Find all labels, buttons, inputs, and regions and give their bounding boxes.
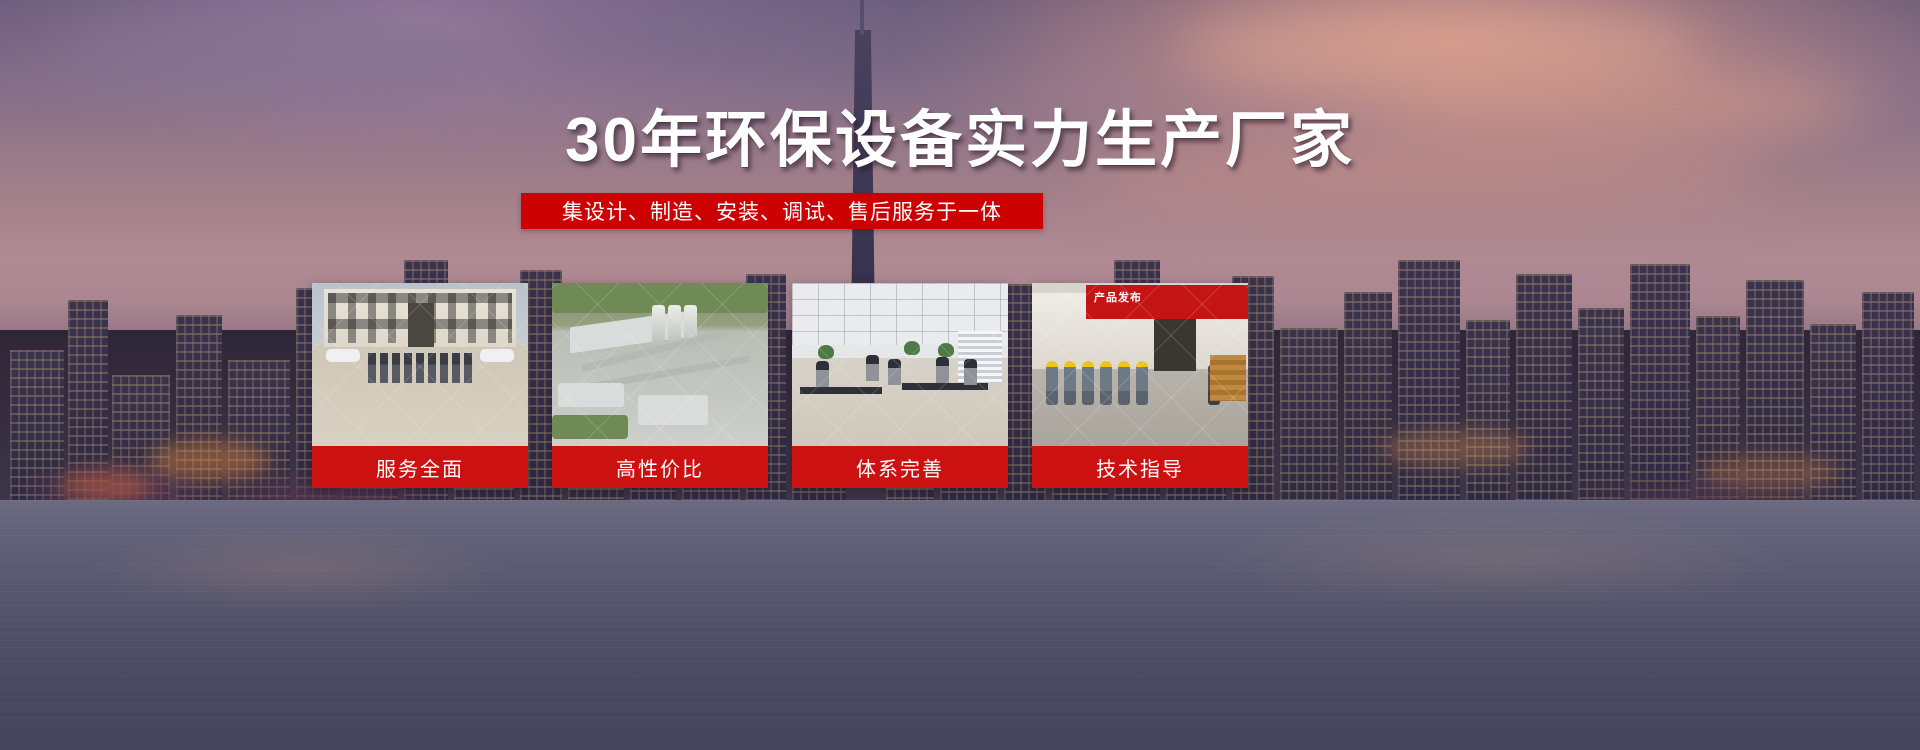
potted-plant: [818, 345, 834, 359]
feature-card-list: 服务全面 高性价比: [312, 283, 1248, 488]
person: [368, 353, 376, 383]
card-label-band: 高性价比: [552, 446, 768, 488]
person: [392, 353, 400, 383]
desk: [800, 387, 882, 394]
person: [428, 353, 436, 383]
feature-card[interactable]: 体系完善: [792, 283, 1008, 488]
hard-hat-icon: [1082, 361, 1094, 367]
subtitle-text: 集设计、制造、安装、调试、售后服务于一体: [562, 196, 1002, 226]
person: [404, 353, 412, 383]
hard-hat-icon: [1100, 361, 1112, 367]
hero-banner: 30年环保设备实力生产厂家 集设计、制造、安装、调试、售后服务于一体: [0, 0, 1920, 750]
car: [326, 349, 360, 362]
card-label-text: 高性价比: [616, 453, 704, 482]
card-photo-industrial-plant: [552, 283, 768, 446]
card-label-text: 服务全面: [376, 453, 464, 482]
person: [416, 353, 424, 383]
factory-banner-text: 产品发布: [1094, 289, 1142, 305]
silo: [652, 305, 665, 347]
warehouse: [638, 395, 708, 425]
person: [936, 357, 949, 383]
car: [480, 349, 514, 362]
building-entrance: [408, 303, 434, 347]
person: [464, 353, 472, 383]
card-label-text: 体系完善: [856, 453, 944, 482]
person: [866, 355, 879, 381]
page-title: 30年环保设备实力生产厂家: [0, 102, 1920, 180]
card-label-band: 体系完善: [792, 446, 1008, 488]
worker: [1046, 365, 1058, 405]
subtitle-ribbon: 集设计、制造、安装、调试、售后服务于一体: [521, 193, 1043, 229]
potted-plant: [938, 343, 954, 357]
potted-plant: [904, 341, 920, 355]
person: [380, 353, 388, 383]
feature-card[interactable]: 服务全面: [312, 283, 528, 488]
person: [816, 361, 829, 387]
person: [440, 353, 448, 383]
person: [452, 353, 460, 383]
worker: [1064, 365, 1076, 405]
card-label-text: 技术指导: [1096, 453, 1184, 482]
feature-card[interactable]: 高性价比: [552, 283, 768, 488]
card-photo-office-building: [312, 283, 528, 446]
person: [888, 359, 901, 385]
feature-card[interactable]: 产品发布 技术指导: [1032, 283, 1248, 488]
worker: [1118, 365, 1130, 405]
hard-hat-icon: [1136, 361, 1148, 367]
hard-hat-icon: [1064, 361, 1076, 367]
card-label-band: 技术指导: [1032, 446, 1248, 488]
warehouse: [558, 383, 624, 407]
card-photo-office-interior: [792, 283, 1008, 446]
worker: [1100, 365, 1112, 405]
hard-hat-icon: [1046, 361, 1058, 367]
stacked-material: [1210, 355, 1246, 401]
card-photo-factory-workers: 产品发布: [1032, 283, 1248, 446]
factory-gate: [1154, 319, 1196, 371]
worker: [1136, 365, 1148, 405]
hard-hat-icon: [1118, 361, 1130, 367]
worker: [1082, 365, 1094, 405]
greenery: [552, 415, 628, 439]
card-label-band: 服务全面: [312, 446, 528, 488]
person: [964, 359, 977, 385]
